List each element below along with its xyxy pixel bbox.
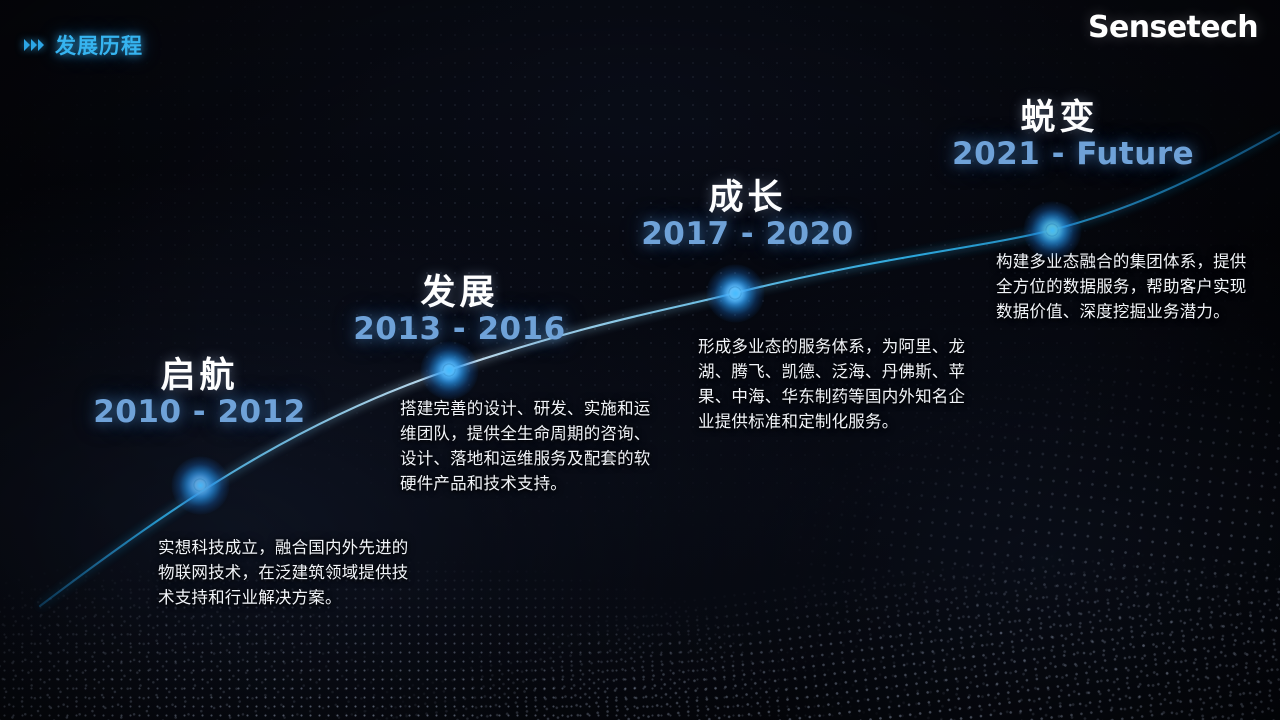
milestone-title-4: 蜕变 xyxy=(952,100,1167,136)
milestone-block-2: 发展 2013 - 2016 搭建完善的设计、研发、实施和运维团队，提供全生命周… xyxy=(352,275,567,348)
milestone-dot-3[interactable] xyxy=(729,287,742,300)
milestone-dot-4[interactable] xyxy=(1046,224,1059,237)
milestone-description-3: 形成多业态的服务体系，为阿里、龙湖、腾飞、凯德、泛海、丹佛斯、苹果、中海、华东制… xyxy=(698,335,978,435)
triple-chevron-right-icon xyxy=(24,39,44,51)
milestone-title-2: 发展 xyxy=(352,275,567,311)
slide-canvas: 发展历程 Sensetech 启航 2010 - 2012 实想科技成立， xyxy=(0,0,1280,720)
brand-logo: Sensetech xyxy=(1088,10,1258,45)
milestone-description-1: 实想科技成立，融合国内外先进的物联网技术，在泛建筑领域提供技术支持和行业解决方案… xyxy=(158,536,423,611)
milestone-description-2: 搭建完善的设计、研发、实施和运维团队，提供全生命周期的咨询、设计、落地和运维服务… xyxy=(400,397,655,497)
milestone-dot-1[interactable] xyxy=(194,479,207,492)
milestone-dot-2[interactable] xyxy=(443,364,456,377)
milestone-title-1: 启航 xyxy=(92,358,307,394)
milestone-description-4: 构建多业态融合的集团体系，提供全方位的数据服务，帮助客户实现数据价值、深度挖掘业… xyxy=(996,250,1258,325)
slide-header: 发展历程 Sensetech xyxy=(0,0,1280,62)
milestone-years-1: 2010 - 2012 xyxy=(92,394,307,431)
milestone-title-3: 成长 xyxy=(640,180,855,216)
page-title: 发展历程 xyxy=(55,30,143,60)
milestone-years-3: 2017 - 2020 xyxy=(640,216,855,253)
milestone-block-3: 成长 2017 - 2020 形成多业态的服务体系，为阿里、龙湖、腾飞、凯德、泛… xyxy=(640,180,855,253)
milestone-block-1: 启航 2010 - 2012 实想科技成立，融合国内外先进的物联网技术，在泛建筑… xyxy=(92,358,307,431)
milestone-block-4: 蜕变 2021 - Future 构建多业态融合的集团体系，提供全方位的数据服务… xyxy=(952,100,1167,173)
milestone-years-4: 2021 - Future xyxy=(952,136,1167,173)
